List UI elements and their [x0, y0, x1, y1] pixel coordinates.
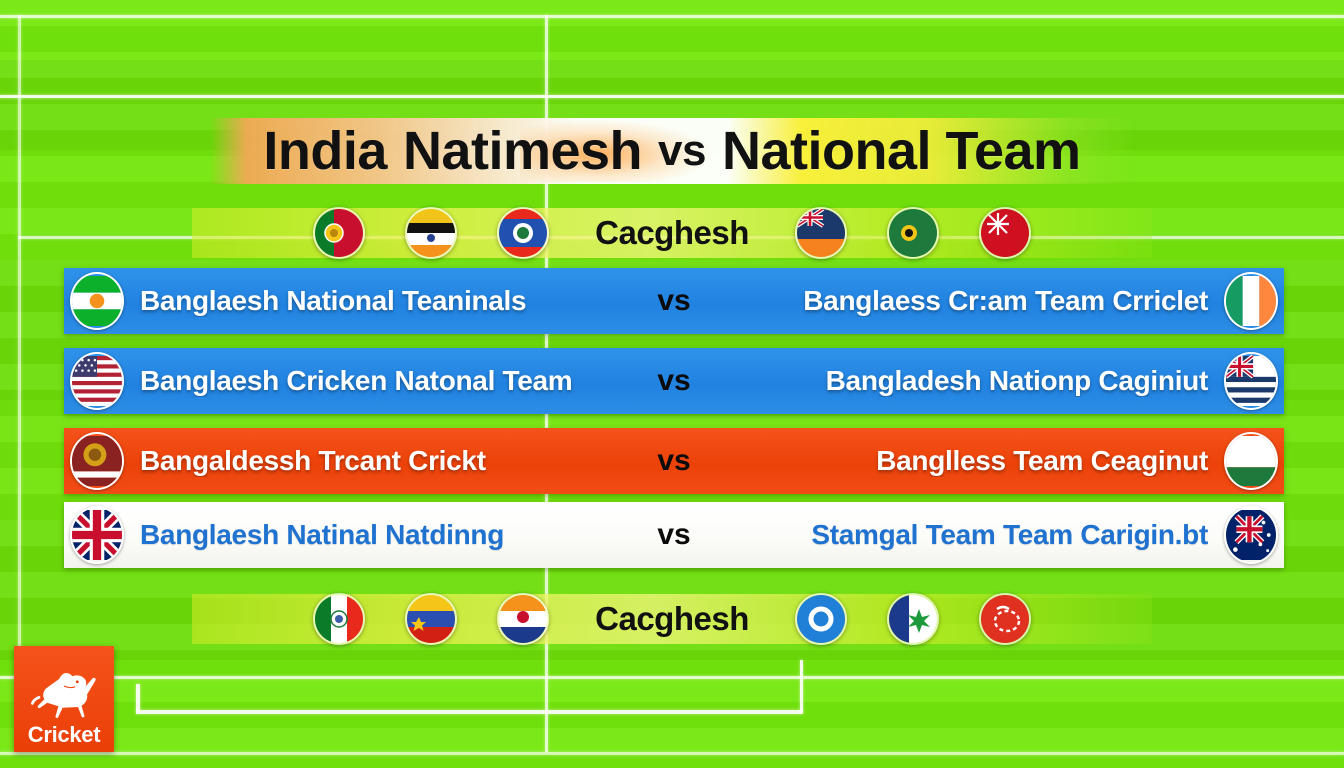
- flag-red-blue-disc-icon: [497, 207, 549, 259]
- cricket-match-graphic: India Natimesh vs National Team Cacghesh: [0, 0, 1344, 768]
- lion-icon: [22, 664, 106, 722]
- page-title: India Natimesh vs National Team: [0, 118, 1344, 184]
- title-part-1: India: [255, 120, 395, 182]
- match-right-team: Bangladesh Nationp Caginiut: [729, 365, 1218, 397]
- pitch-line-horizontal-lower: [0, 676, 1344, 679]
- flag-red-union-icon: [979, 207, 1031, 259]
- pitch-crease-horizontal: [136, 710, 803, 714]
- flag-portugal-icon: [313, 207, 365, 259]
- flag-green-emblem-icon: [887, 207, 939, 259]
- logo-label: Cricket: [28, 724, 101, 746]
- pitch-line-vertical-left: [18, 15, 21, 676]
- pitch-line-horizontal-upper: [0, 95, 1344, 98]
- top-strip-label: Cacghesh: [589, 214, 755, 252]
- pitch-line-bottom-boundary: [0, 752, 1344, 755]
- match-left-team: Banglaesh Natinal Natdinng: [130, 519, 619, 551]
- pitch-crease-vertical: [136, 684, 140, 712]
- bottom-flag-strip: Cacghesh: [0, 588, 1344, 650]
- match-right-team: Stamgal Team Team Carigin.bt: [729, 519, 1218, 551]
- flag-blue-white-leaf-icon: [887, 593, 939, 645]
- title-banner: India Natimesh vs National Team: [0, 118, 1344, 188]
- flag-hungary-icon: [1224, 432, 1278, 490]
- flag-hawaii-icon: [1224, 352, 1278, 410]
- top-flag-strip: Cacghesh: [0, 202, 1344, 264]
- flag-red-circle-icon: [979, 593, 1031, 645]
- pitch-line-vertical-right: [800, 660, 803, 712]
- match-row[interactable]: Bangaldessh Trcant Crickt vs Banglless T…: [64, 428, 1284, 494]
- title-vs: vs: [650, 126, 714, 176]
- match-right-team: Banglaess Cr:am Team Crriclet: [729, 285, 1218, 317]
- match-left-team: Bangaldessh Trcant Crickt: [130, 445, 619, 477]
- match-row[interactable]: Banglaesh National Teaninals vs Banglaes…: [64, 268, 1284, 334]
- flag-fiji-icon: [795, 207, 847, 259]
- flag-orange-white-emblem-icon: [405, 207, 457, 259]
- match-vs-label: vs: [619, 444, 729, 478]
- match-right-team: Banglless Team Ceaginut: [729, 445, 1218, 477]
- flag-unionjack-icon: [70, 506, 124, 564]
- cricket-logo[interactable]: Cricket: [14, 646, 114, 752]
- match-row[interactable]: Banglaesh Natinal Natdinng vs Stamgal Te…: [64, 502, 1284, 568]
- flag-darkred-emblem-icon: [70, 432, 124, 490]
- pitch-line-top-boundary: [0, 15, 1344, 18]
- match-left-team: Banglaesh National Teaninals: [130, 285, 619, 317]
- flag-australia-icon: [1224, 506, 1278, 564]
- match-vs-label: vs: [619, 284, 729, 318]
- flag-ireland-icon: [1224, 272, 1278, 330]
- flag-blue-ring-icon: [795, 593, 847, 645]
- flag-green-red-emblem-icon: [313, 593, 365, 645]
- title-part-3: National Team: [714, 120, 1089, 182]
- flag-niger-icon: [70, 272, 124, 330]
- flag-usa-icon: [70, 352, 124, 410]
- flag-yellow-blue-red-icon: [405, 593, 457, 645]
- flag-orange-white-blue-icon: [497, 593, 549, 645]
- bottom-strip-label: Cacghesh: [589, 600, 755, 638]
- match-vs-label: vs: [619, 364, 729, 398]
- match-vs-label: vs: [619, 518, 729, 552]
- match-row[interactable]: Banglaesh Cricken Natonal Team vs Bangla…: [64, 348, 1284, 414]
- title-part-2: Natimesh: [395, 120, 650, 182]
- match-left-team: Banglaesh Cricken Natonal Team: [130, 365, 619, 397]
